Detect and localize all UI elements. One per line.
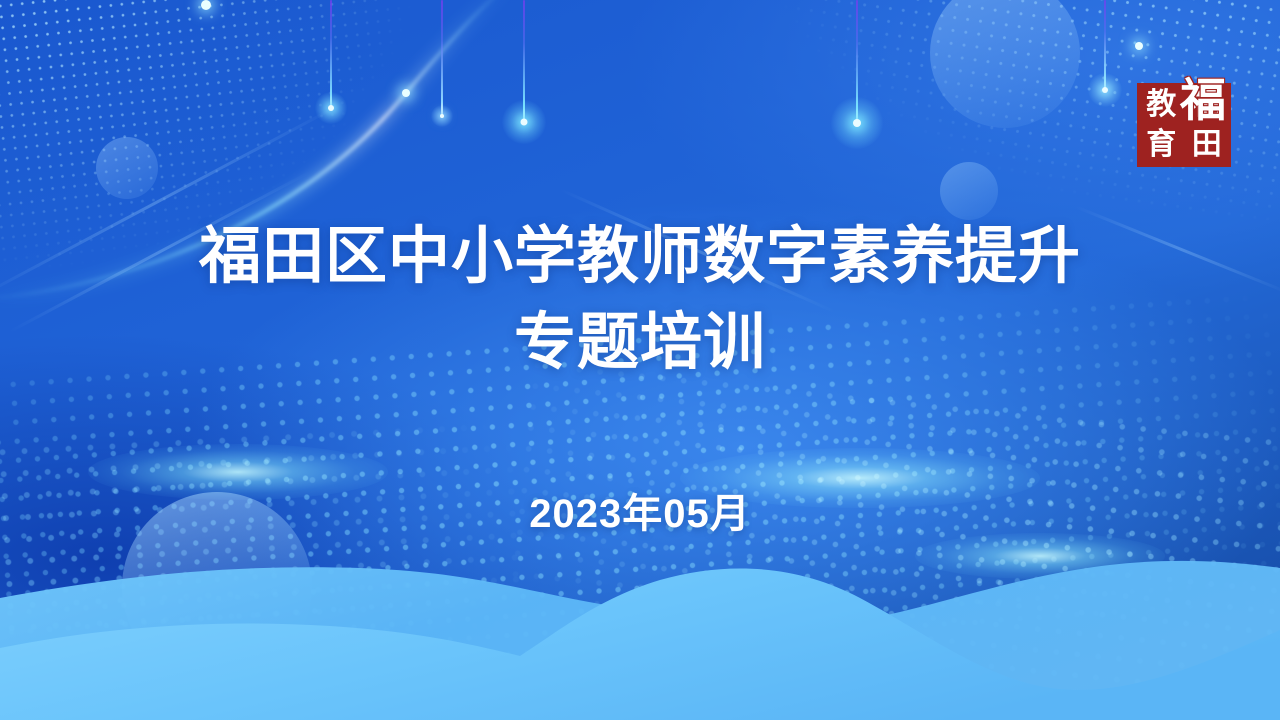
presentation-title-slide: 教 福 育 田 福 福田区中小学教师数字素养提升 专题培训 2023年05月 <box>0 0 1280 720</box>
futian-education-seal-logo: 教 福 育 田 <box>1137 83 1231 167</box>
spark-dot-3 <box>1135 42 1143 50</box>
seal-char-bottom-right: 田 <box>1186 127 1229 165</box>
seal-char-bottom-left: 育 <box>1140 127 1183 165</box>
seal-char-top-right: 福 <box>1186 86 1229 124</box>
spark-dot-1 <box>402 89 410 97</box>
seal-char-top-left: 教 <box>1140 86 1183 124</box>
background-gradient <box>0 0 1280 720</box>
spark-dot-2 <box>201 0 211 10</box>
